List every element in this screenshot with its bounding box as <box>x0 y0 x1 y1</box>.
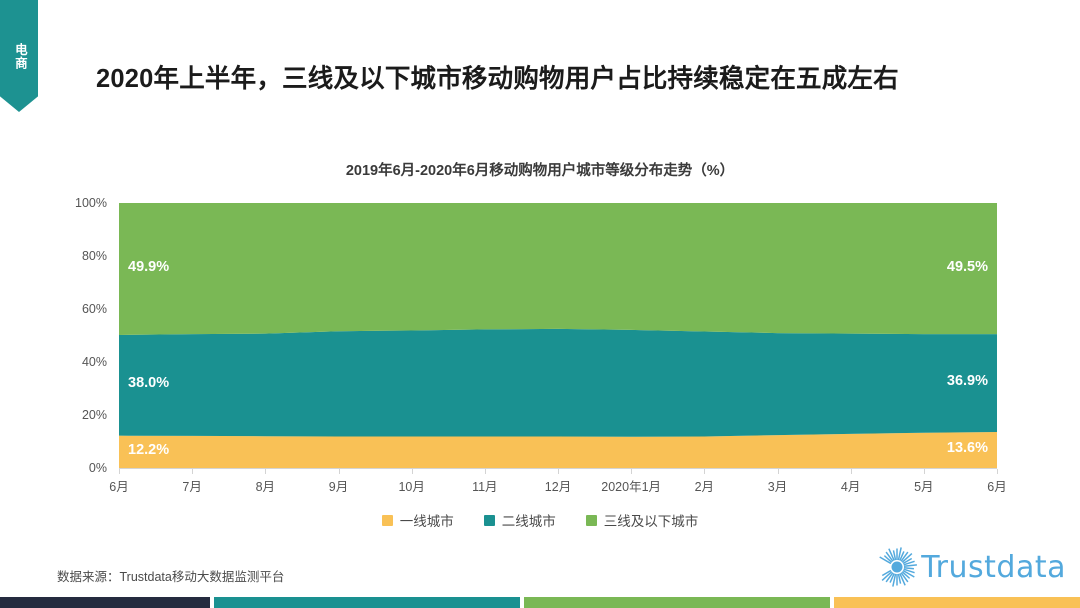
x-axis-tick: 10月 <box>398 476 424 495</box>
stacked-area-svg <box>119 203 997 468</box>
x-axis-tick: 2020年1月 <box>601 476 661 495</box>
bottom-color-bar <box>0 597 1080 608</box>
series-value-label: 12.2% <box>128 442 169 458</box>
legend-item[interactable]: 二线城市 <box>484 510 556 530</box>
logo-text: Trustdata <box>921 550 1066 585</box>
x-axis-tick: 4月 <box>841 476 860 495</box>
x-axis-tick: 6月 <box>109 476 128 495</box>
trustdata-logo: Trustdata <box>875 545 1066 589</box>
legend-label: 一线城市 <box>400 510 454 530</box>
x-axis-tick: 2月 <box>695 476 714 495</box>
series-value-label: 38.0% <box>128 375 169 391</box>
page-title: 2020年上半年，三线及以下城市移动购物用户占比持续稳定在五成左右 <box>96 58 1016 95</box>
x-axis-tickmark <box>192 469 193 474</box>
x-axis-tick: 8月 <box>256 476 275 495</box>
x-axis-tickmark <box>778 469 779 474</box>
bottom-bar-segment <box>0 597 210 608</box>
x-axis-tickmark <box>558 469 559 474</box>
chart-container: 2019年6月-2020年6月移动购物用户城市等级分布走势（%） 0%20%40… <box>0 150 1080 550</box>
legend-swatch <box>586 515 597 526</box>
y-axis-tick: 100% <box>75 196 107 210</box>
bottom-bar-segment <box>524 597 830 608</box>
sunburst-icon <box>875 545 919 589</box>
y-axis: 0%20%40%60%80%100% <box>43 196 113 476</box>
y-axis-tick: 40% <box>82 355 107 369</box>
y-axis-tick: 0% <box>89 461 107 475</box>
area-series <box>119 329 997 437</box>
bottom-bar-segment <box>834 597 1080 608</box>
legend-label: 二线城市 <box>502 510 556 530</box>
x-axis-tick: 3月 <box>768 476 787 495</box>
series-value-label: 36.9% <box>947 373 988 389</box>
legend-label: 三线及以下城市 <box>604 510 699 530</box>
slide-page: 电商 2020年上半年，三线及以下城市移动购物用户占比持续稳定在五成左右 201… <box>0 0 1080 608</box>
legend-item[interactable]: 三线及以下城市 <box>586 510 699 530</box>
category-ribbon-label: 电商 <box>11 43 27 70</box>
x-axis-tickmark <box>339 469 340 474</box>
x-axis-tickmark <box>119 469 120 474</box>
x-axis-tickmark <box>851 469 852 474</box>
area-series <box>119 432 997 468</box>
bottom-bar-segment <box>214 597 520 608</box>
legend-swatch <box>382 515 393 526</box>
series-value-label: 13.6% <box>947 440 988 456</box>
x-axis-tickmark <box>412 469 413 474</box>
x-axis-tickmark <box>924 469 925 474</box>
area-series <box>119 203 997 335</box>
y-axis-tick: 60% <box>82 302 107 316</box>
x-axis-tick: 5月 <box>914 476 933 495</box>
data-source-note: 数据来源：Trustdata移动大数据监测平台 <box>57 566 284 585</box>
x-axis-tickmark <box>631 469 632 474</box>
series-value-label: 49.9% <box>128 259 169 275</box>
x-axis-tickmark <box>265 469 266 474</box>
x-axis-tick: 6月 <box>987 476 1006 495</box>
x-axis-tickmark <box>704 469 705 474</box>
legend-swatch <box>484 515 495 526</box>
x-axis-tickmark <box>485 469 486 474</box>
x-axis-tick: 11月 <box>472 476 497 495</box>
plot-area <box>119 203 997 468</box>
x-axis-tick: 7月 <box>182 476 201 495</box>
x-axis: 6月7月8月9月10月11月12月2020年1月2月3月4月5月6月 <box>119 469 997 495</box>
chart-title: 2019年6月-2020年6月移动购物用户城市等级分布走势（%） <box>0 159 1080 180</box>
x-axis-tick: 12月 <box>545 476 571 495</box>
legend-item[interactable]: 一线城市 <box>382 510 454 530</box>
category-ribbon: 电商 <box>0 0 38 112</box>
x-axis-tick: 9月 <box>329 476 348 495</box>
y-axis-tick: 20% <box>82 408 107 422</box>
plot-frame: 49.9%38.0%12.2%49.5%36.9%13.6% <box>119 203 997 468</box>
y-axis-tick: 80% <box>82 249 107 263</box>
series-value-label: 49.5% <box>947 259 988 275</box>
x-axis-tickmark <box>997 469 998 474</box>
chart-legend: 一线城市二线城市三线及以下城市 <box>0 510 1080 530</box>
